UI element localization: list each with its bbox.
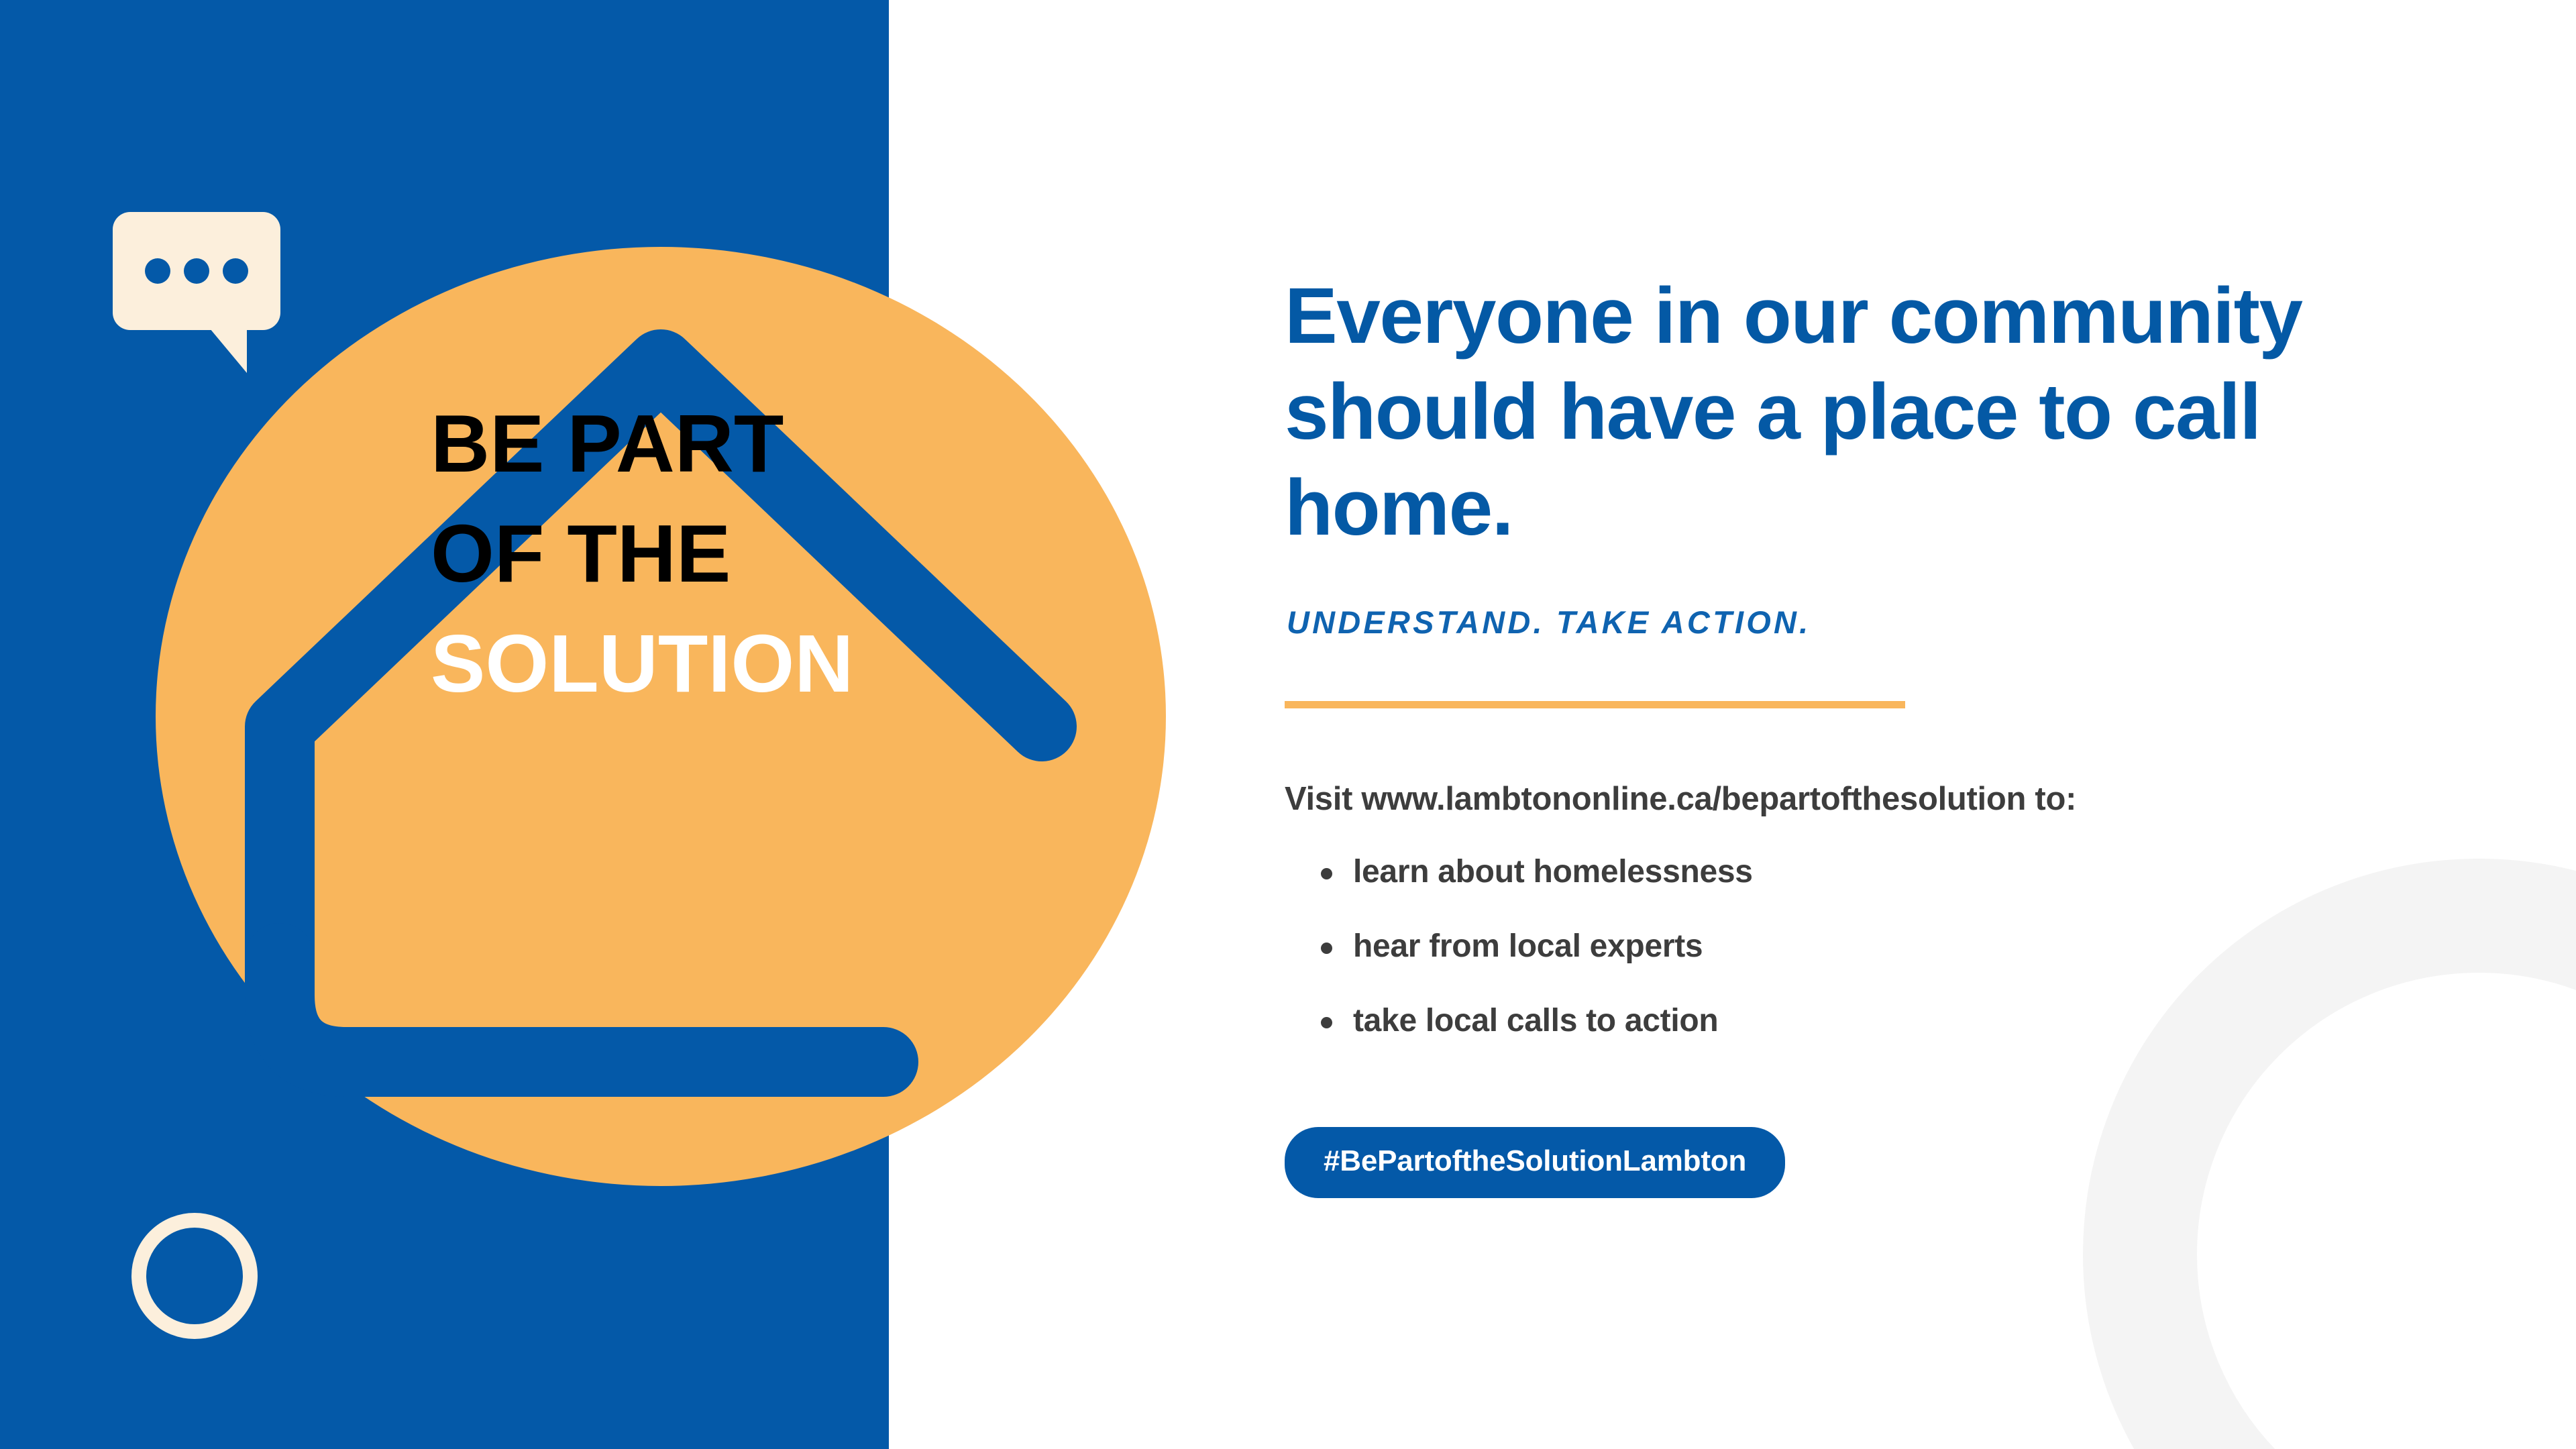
visit-instruction-text: Visit www.lambtononline.ca/bepartoftheso…	[1285, 780, 2076, 818]
content-column: Everyone in our community should have a …	[1285, 0, 2512, 1449]
speech-bubble-icon	[113, 212, 280, 330]
list-item: learn about homelessness	[1318, 853, 1753, 890]
action-list: learn about homelessness hear from local…	[1318, 853, 1753, 1077]
bullet-dot-icon	[1321, 868, 1332, 879]
speech-bubble-tail	[207, 325, 247, 373]
list-item-label: learn about homelessness	[1353, 854, 1753, 890]
list-item: take local calls to action	[1318, 1002, 1753, 1039]
list-item: hear from local experts	[1318, 928, 1753, 965]
list-item-label: take local calls to action	[1353, 1003, 1718, 1038]
logo-line-3: SOLUTION	[431, 623, 894, 704]
logo-line-2: OF THE	[431, 513, 894, 594]
bullet-dot-icon	[1321, 1017, 1332, 1028]
bullet-dot-icon	[1321, 943, 1332, 954]
ellipsis-dot	[145, 258, 170, 284]
ellipsis-dot	[184, 258, 209, 284]
orange-divider	[1285, 701, 1905, 708]
ellipsis-dot	[223, 258, 248, 284]
logo-line-1: BE PART	[431, 402, 894, 484]
list-item-label: hear from local experts	[1353, 928, 1703, 964]
page-title: Everyone in our community should have a …	[1285, 268, 2412, 555]
hashtag-button[interactable]: #BePartoftheSolutionLambton	[1285, 1127, 1785, 1198]
subtitle-tagline: Understand. Take Action.	[1287, 604, 1811, 641]
logo-wordmark: BE PART OF THE SOLUTION	[156, 402, 894, 733]
speech-bubble-dots	[113, 212, 280, 330]
circle-outline-icon	[131, 1213, 258, 1339]
poster-canvas: BE PART OF THE SOLUTION Everyone in our …	[0, 0, 2576, 1449]
